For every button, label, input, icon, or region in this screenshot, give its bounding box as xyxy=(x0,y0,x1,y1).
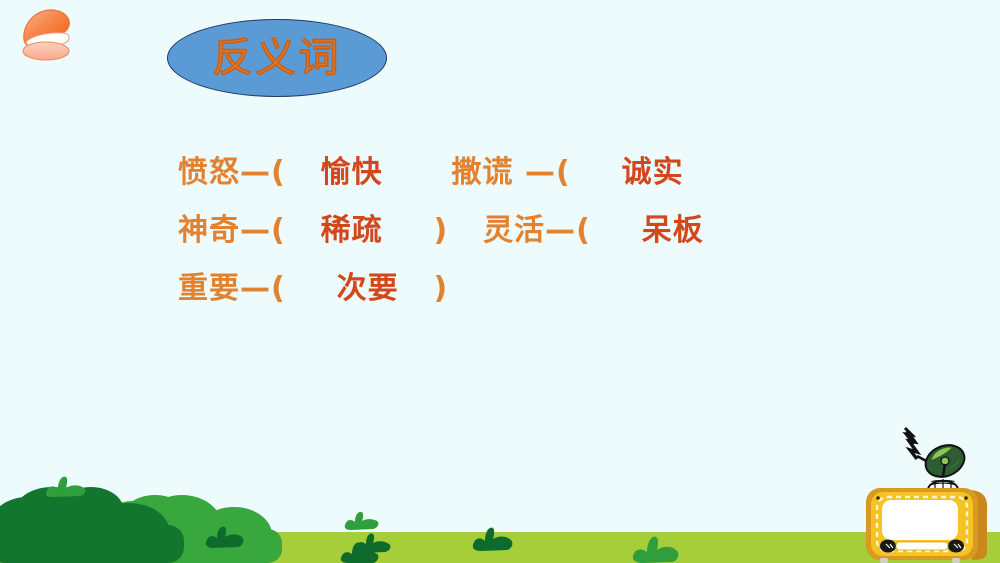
signal-bolt-icon xyxy=(905,428,917,459)
answer-text[interactable]: 诚实 xyxy=(622,155,684,190)
tv-screen xyxy=(882,500,958,540)
grass-tuft-icon xyxy=(630,534,682,563)
title-badge: 反义词 xyxy=(167,19,387,97)
exercise-row: 重要—( 次要 ) xyxy=(178,260,938,318)
prompt-text: 重要—( xyxy=(178,271,286,306)
answer-text[interactable]: 稀疏 xyxy=(321,213,383,248)
prompt-text: 神奇—( xyxy=(178,213,286,248)
grass-tuft-icon xyxy=(338,540,382,563)
exercise-list: 愤怒—( 愉快 撒谎 —( 诚实 神奇—( 稀疏 ) 灵活—( 呆板 重要—( … xyxy=(178,144,938,318)
grass-tuft-icon xyxy=(470,524,516,556)
grass-tuft-icon xyxy=(342,509,382,535)
bush-dark xyxy=(0,489,188,563)
tv-speaker-bar xyxy=(896,542,948,550)
prompt-text: 灵活—( xyxy=(483,213,591,248)
tv-foot-right xyxy=(952,558,960,563)
exercise-row: 神奇—( 稀疏 ) 灵活—( 呆板 xyxy=(178,202,938,260)
page-title: 反义词 xyxy=(213,38,342,78)
exercise-row: 愤怒—( 愉快 撒谎 —( 诚实 xyxy=(178,144,938,202)
close-paren: ) xyxy=(434,271,449,306)
grass-tuft-icon xyxy=(203,523,247,553)
shell-ornament xyxy=(18,6,74,64)
retro-television xyxy=(860,418,1000,563)
prompt-text: 愤怒—( xyxy=(178,155,286,190)
tv-foot-left xyxy=(880,558,888,563)
close-paren: ) xyxy=(434,213,449,248)
answer-text[interactable]: 呆板 xyxy=(642,213,704,248)
answer-text[interactable]: 愉快 xyxy=(321,155,383,190)
satellite-dish-icon xyxy=(921,440,969,490)
answer-text[interactable]: 次要 xyxy=(337,271,399,306)
slide-canvas: 反义词 愤怒—( 愉快 撒谎 —( 诚实 神奇—( 稀疏 ) 灵活—( 呆板 重… xyxy=(0,0,1000,563)
prompt-text: 撒谎 —( xyxy=(452,155,571,190)
grass-tuft-icon xyxy=(42,473,90,503)
